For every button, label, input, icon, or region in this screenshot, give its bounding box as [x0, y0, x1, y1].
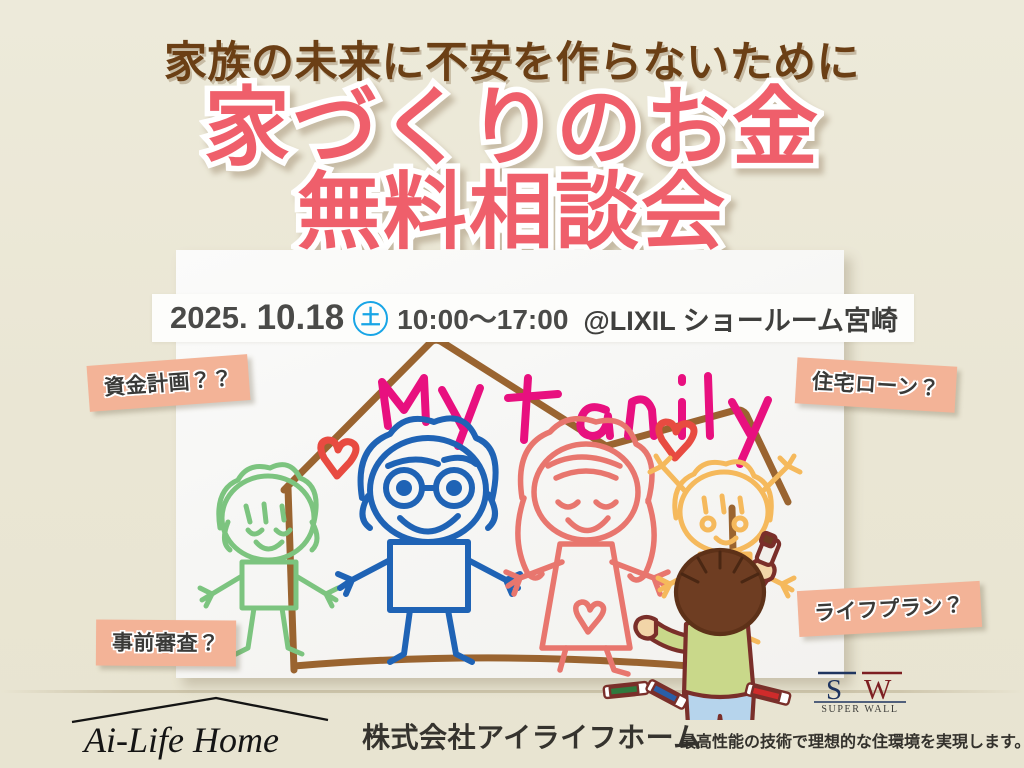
title-line-2: 無料相談会: [0, 169, 1024, 256]
callout-tag-home-loan: 住宅ローン？: [795, 357, 957, 412]
callout-tag-label: 資金計画？？: [103, 367, 233, 399]
title-line-1: 家づくりのお金: [0, 84, 1024, 173]
event-details: 2025. 10.18 土 10:00〜17:00 @LIXIL ショールーム宮…: [152, 294, 914, 342]
callout-tag-prescreening: 事前審査？: [96, 620, 236, 667]
event-venue: @LIXIL ショールーム宮崎: [583, 299, 898, 338]
event-time: 10:00〜17:00: [397, 298, 568, 338]
day-of-week-badge: 土: [353, 301, 388, 336]
main-title: 家づくりのお金 無料相談会: [0, 84, 1024, 255]
event-date: 10.18: [257, 298, 345, 338]
flyer-canvas: 家族の未来に不安を作らないために 家づくりのお金 無料相談会: [0, 0, 1024, 768]
callout-tag-label: ライフプラン？: [814, 594, 966, 625]
event-year: 2025.: [170, 300, 248, 336]
crayons-group: [590, 668, 810, 712]
sw-name-text: SUPER WALL: [821, 704, 898, 714]
super-wall-logo: S W SUPER WALL: [800, 668, 920, 714]
partner-tagline: 最高性能の技術で理想的な住環境を実現します。: [680, 728, 1024, 752]
brand-name-text: Ai-Life Home: [82, 720, 279, 760]
callout-tag-label: 住宅ローン？: [811, 370, 940, 401]
brand-logo: Ai-Life Home: [66, 694, 336, 760]
callout-tag-label: 事前審査？: [112, 632, 220, 656]
company-name: 株式会社アイライフホーム: [362, 716, 702, 756]
